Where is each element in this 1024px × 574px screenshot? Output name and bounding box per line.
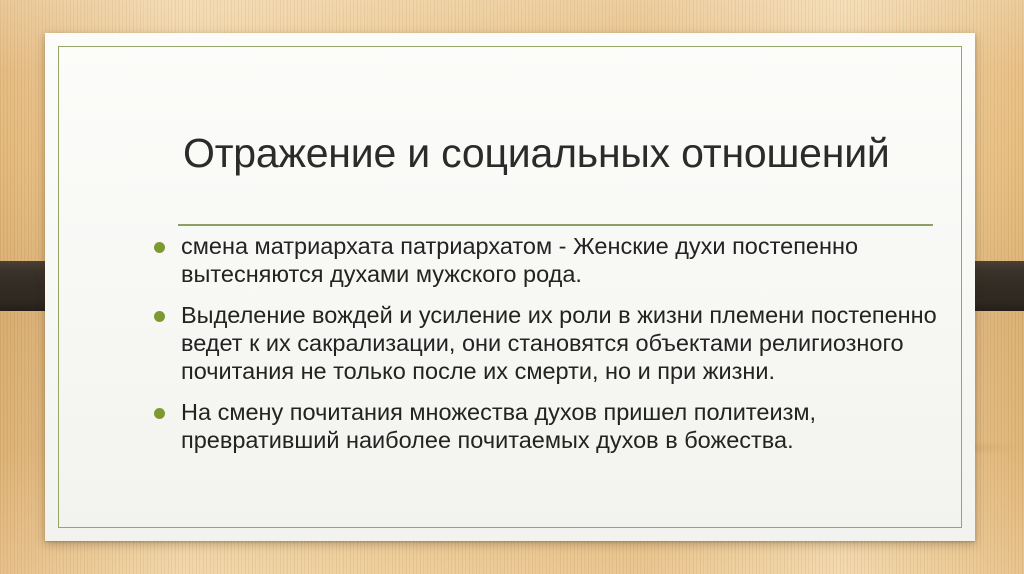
bullet-list: смена матриархата патриархатом - Женские… <box>149 233 969 455</box>
bullet-text: смена матриархата патриархатом - Женские… <box>181 233 969 289</box>
slide-title: Отражение и социальных отношений <box>183 131 943 175</box>
slide-content: Отражение и социальных отношений смена м… <box>45 33 975 541</box>
list-item: На смену почитания множества духов прише… <box>149 399 969 455</box>
bullet-dot-icon <box>154 408 165 419</box>
list-item: смена матриархата патриархатом - Женские… <box>149 233 969 289</box>
bullet-dot-icon <box>154 242 165 253</box>
slide-card: Отражение и социальных отношений смена м… <box>45 33 975 541</box>
bullet-text: Выделение вождей и усиление их роли в жи… <box>181 302 969 386</box>
title-divider-rule <box>178 224 933 226</box>
list-item: Выделение вождей и усиление их роли в жи… <box>149 302 969 386</box>
slide-stage: Отражение и социальных отношений смена м… <box>0 0 1024 574</box>
bullet-dot-icon <box>154 311 165 322</box>
bullet-text: На смену почитания множества духов прише… <box>181 399 969 455</box>
